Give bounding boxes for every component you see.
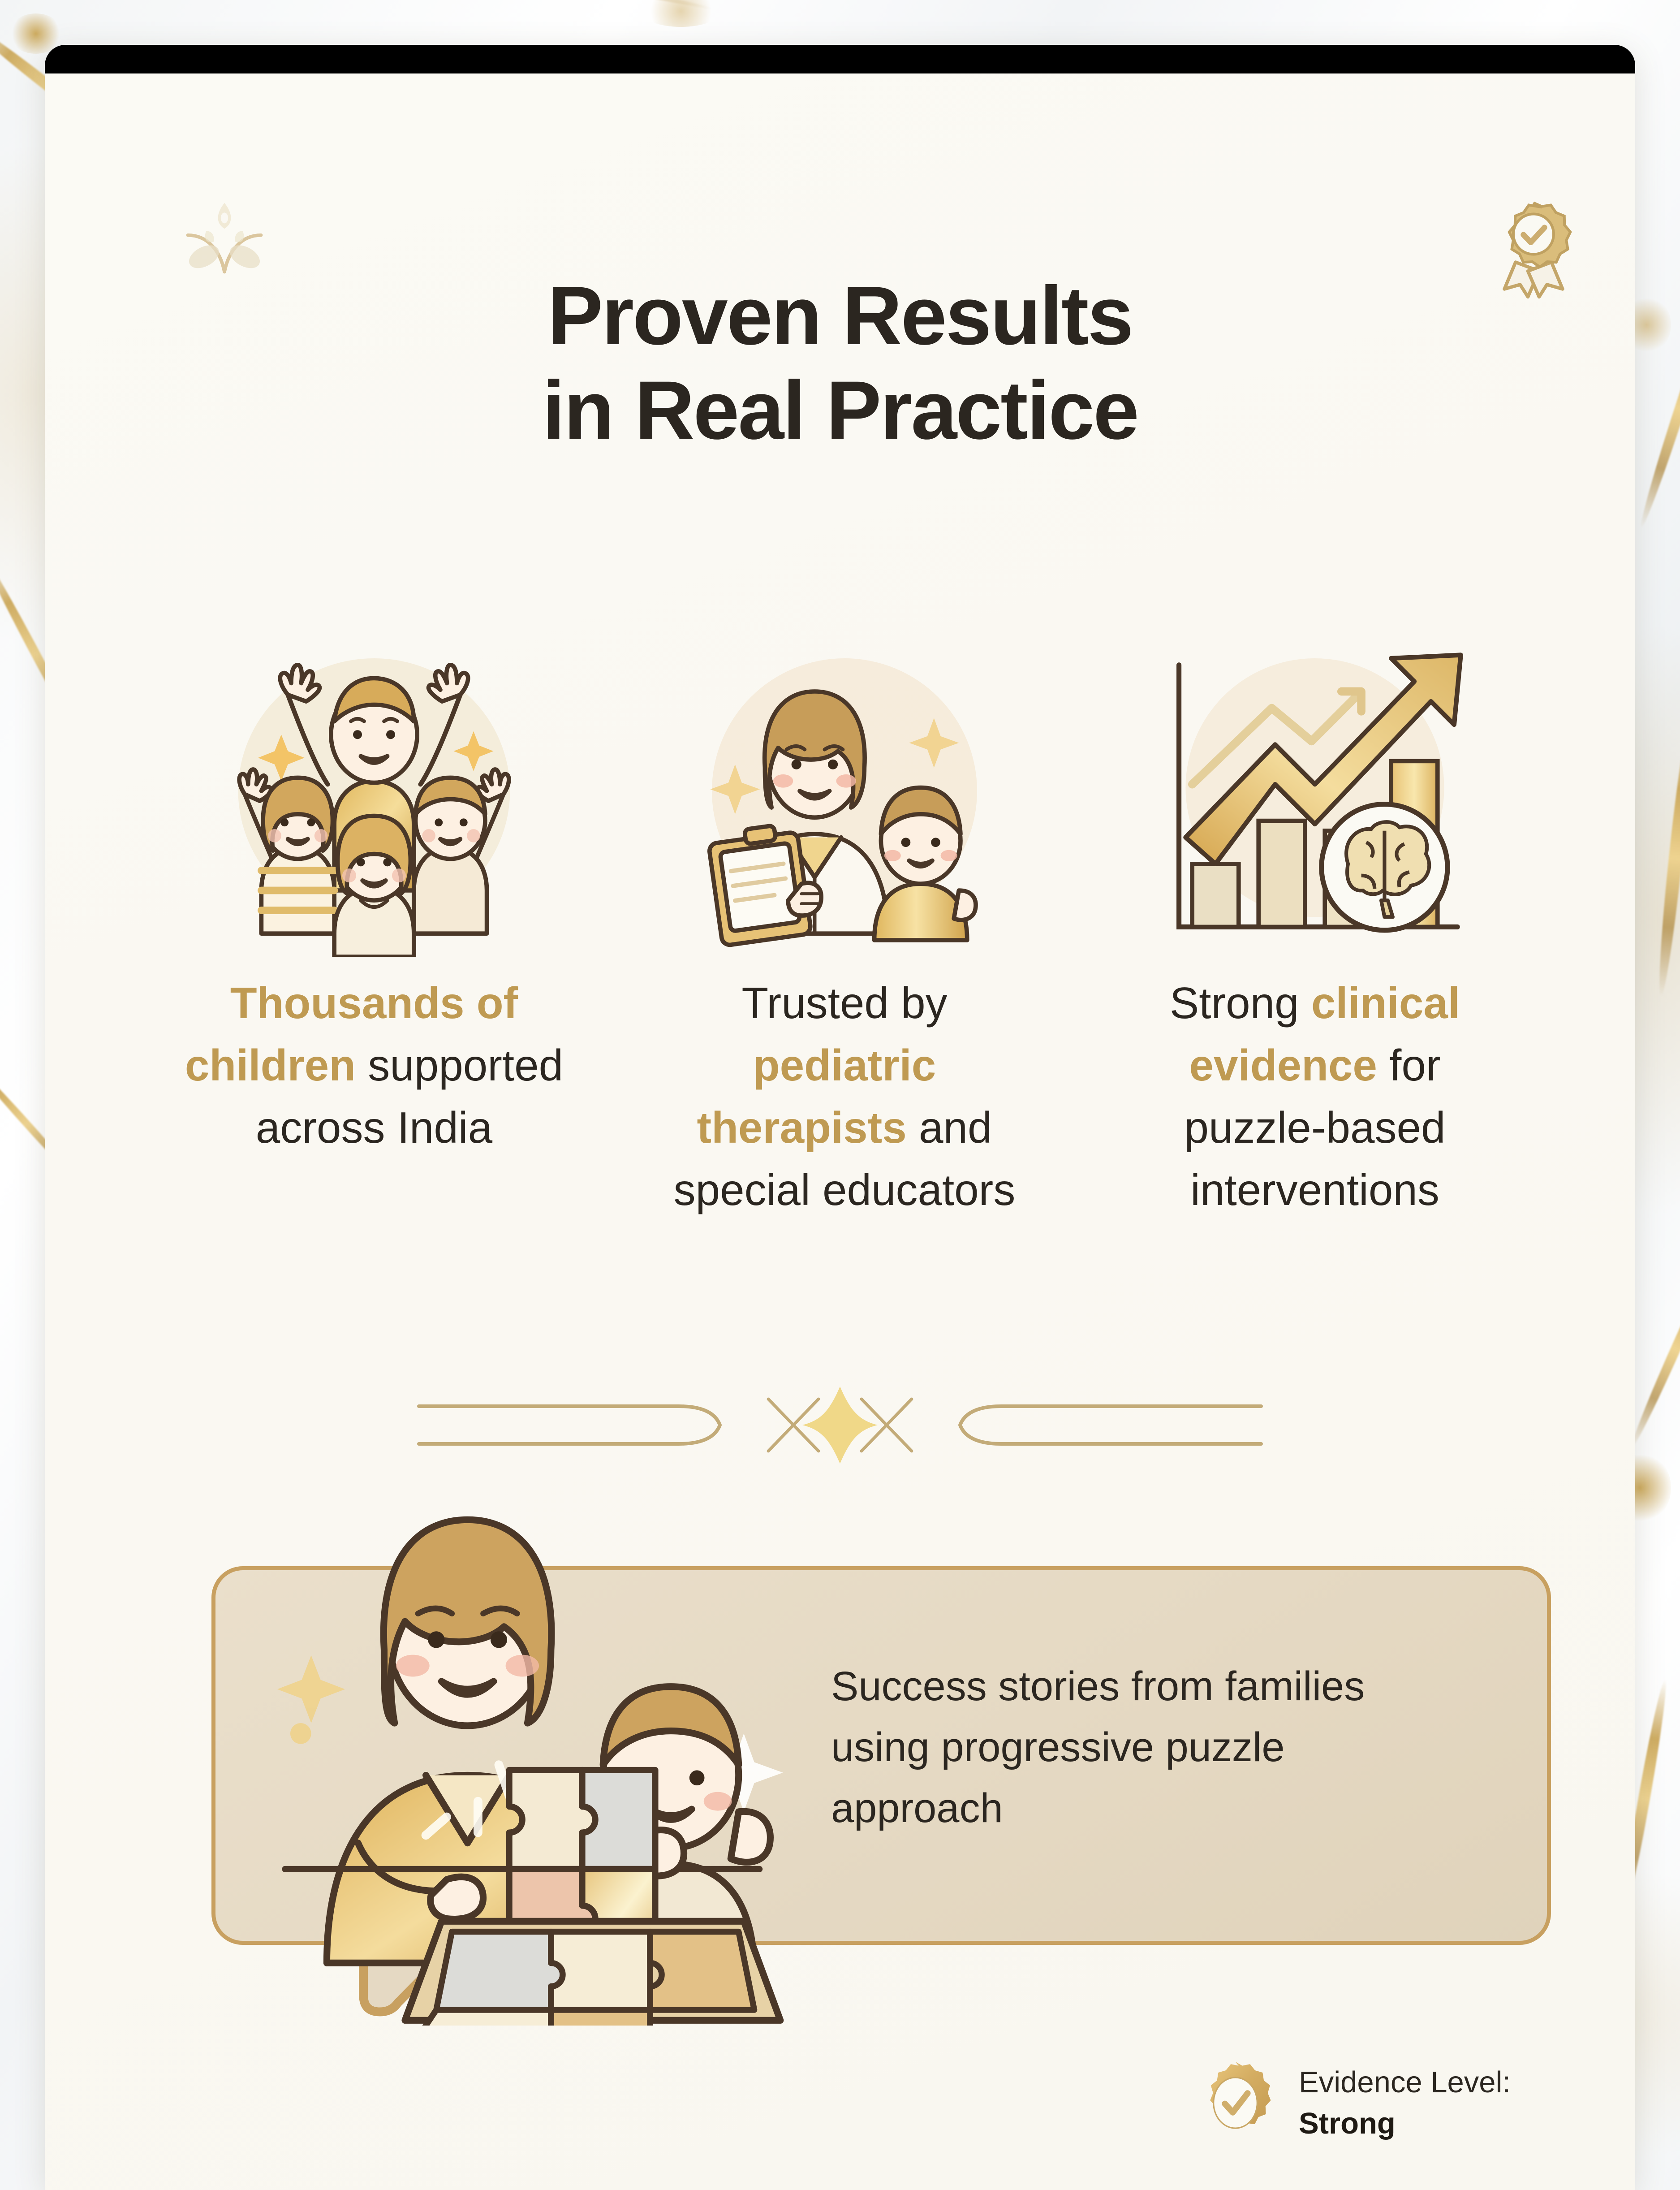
evidence-level-value: Strong [1299,2103,1511,2144]
feature-column-therapists: Trusted by pediatric therapists and spec… [636,621,1053,1222]
feature-plain-text: Strong [1170,978,1311,1028]
cheering-children-illustration [166,621,582,961]
feature-text-children: Thousands of children supported across I… [166,972,582,1159]
mother-child-puzzle-illustration [255,1452,784,2026]
feature-accent-text: pediatric therapists [697,1041,936,1152]
gold-check-seal-icon [1192,2059,1279,2147]
feature-plain-text: Trusted by [741,978,947,1028]
feature-columns: Thousands of children supported across I… [166,621,1523,1222]
page-title: Proven Results in Real Practice [45,269,1635,458]
evidence-level-badge: Evidence Level: Strong [1192,2059,1511,2147]
feature-text-evidence: Strong clinical evidence for puzzle-base… [1107,972,1523,1222]
testimonial-text: Success stories from families using prog… [831,1656,1467,1839]
poster-card: Proven Results in Real Practice [45,45,1635,2190]
growth-chart-brain-illustration [1107,621,1523,961]
evidence-level-label: Evidence Level: [1299,2062,1511,2103]
feature-text-therapists: Trusted by pediatric therapists and spec… [636,972,1053,1222]
feature-column-children: Thousands of children supported across I… [166,621,582,1222]
card-top-bar [45,45,1635,73]
feature-column-evidence: Strong clinical evidence for puzzle-base… [1107,621,1523,1222]
evidence-text-block: Evidence Level: Strong [1299,2062,1511,2143]
page-title-line-1: Proven Results [45,269,1635,363]
therapist-with-child-illustration [636,621,1053,961]
page-title-line-2: in Real Practice [45,363,1635,458]
